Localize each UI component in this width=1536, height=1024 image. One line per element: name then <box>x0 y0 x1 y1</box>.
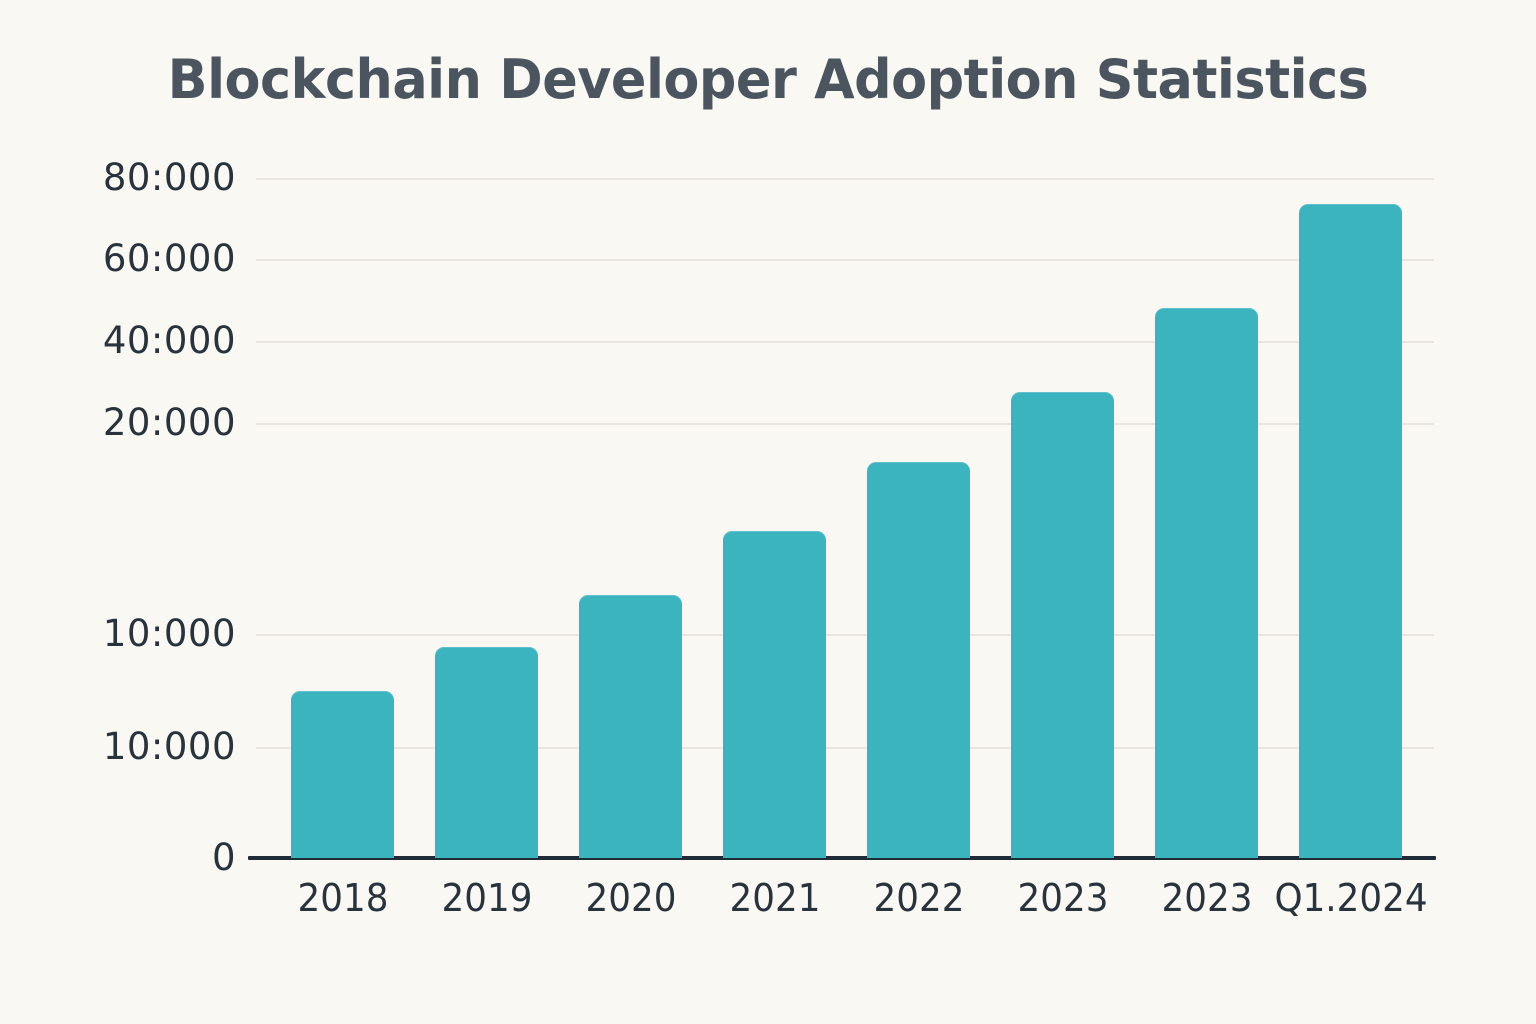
x-axis: 2018201920202021202220232023Q1.2024 <box>0 876 1536 936</box>
bar[interactable] <box>1011 392 1114 858</box>
bar[interactable] <box>723 531 826 858</box>
bar[interactable] <box>1299 204 1402 858</box>
bar[interactable] <box>1155 308 1258 858</box>
bar[interactable] <box>579 595 682 858</box>
bar[interactable] <box>867 462 970 858</box>
bars-layer <box>0 0 1536 858</box>
x-tick-label: Q1.2024 <box>1247 876 1454 920</box>
bar[interactable] <box>435 647 538 858</box>
bar[interactable] <box>291 691 394 858</box>
bar-chart: Blockchain Developer Adoption Statistics… <box>0 0 1536 1024</box>
